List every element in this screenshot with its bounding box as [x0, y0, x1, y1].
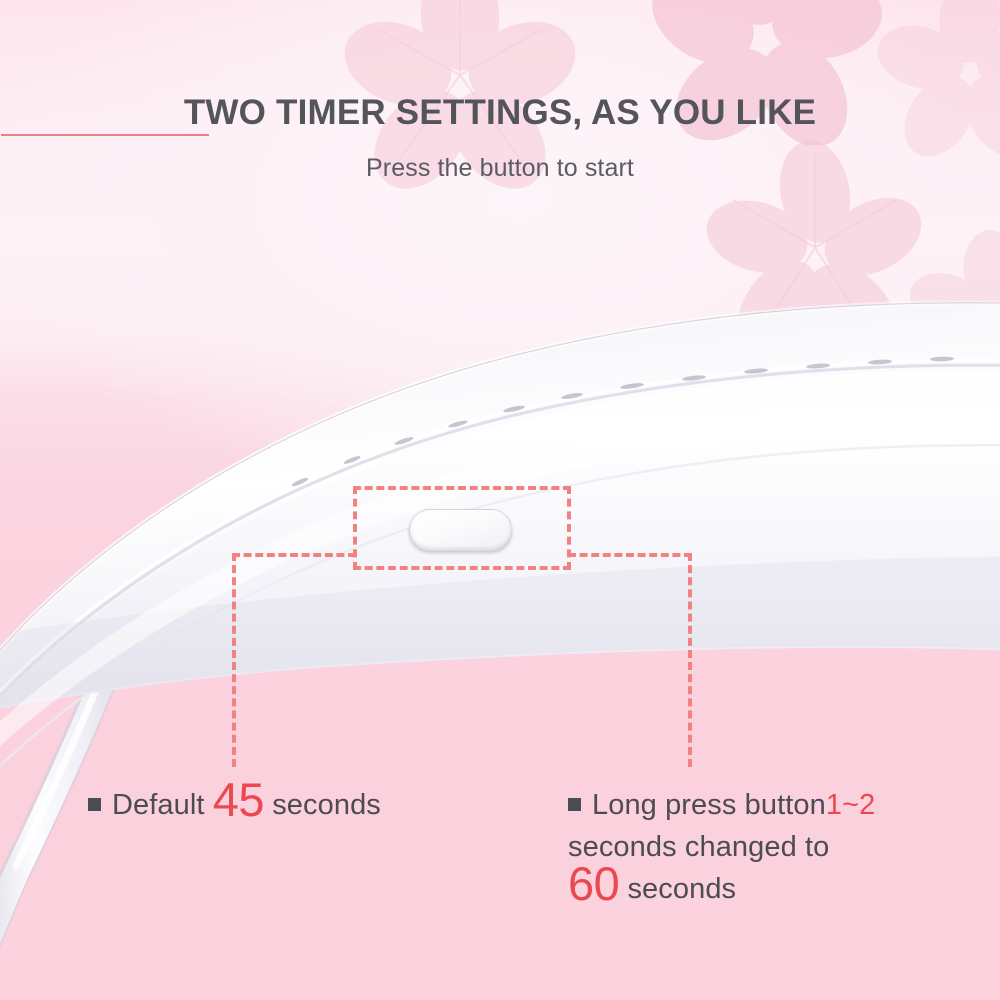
caption-left-suffix: seconds	[264, 789, 381, 821]
caption-left-prefix: Default	[112, 789, 213, 821]
caption-right-line1-prefix: Long press button	[592, 789, 826, 821]
caption-default-timer: Default 45 seconds	[88, 784, 381, 826]
caption-right-line2: seconds changed to	[568, 826, 958, 868]
caption-long-press-timer: Long press button1~2 seconds changed to …	[568, 784, 958, 910]
connector-left-vertical	[232, 553, 236, 767]
caption-right-line3-suffix: seconds	[619, 873, 736, 905]
power-button-highlight-box	[353, 486, 571, 570]
bullet-icon	[88, 798, 101, 811]
bullet-icon	[568, 798, 581, 811]
connector-right-vertical	[688, 553, 692, 767]
caption-right-line1-value: 1~2	[826, 789, 876, 821]
connector-left-horizontal	[232, 553, 356, 557]
connector-right-horizontal	[568, 553, 692, 557]
caption-left-value: 45	[213, 773, 264, 826]
product-marketing-image: TWO TIMER SETTINGS, AS YOU LIKE Press th…	[0, 0, 1000, 1000]
caption-right-line3-value: 60	[568, 857, 619, 910]
